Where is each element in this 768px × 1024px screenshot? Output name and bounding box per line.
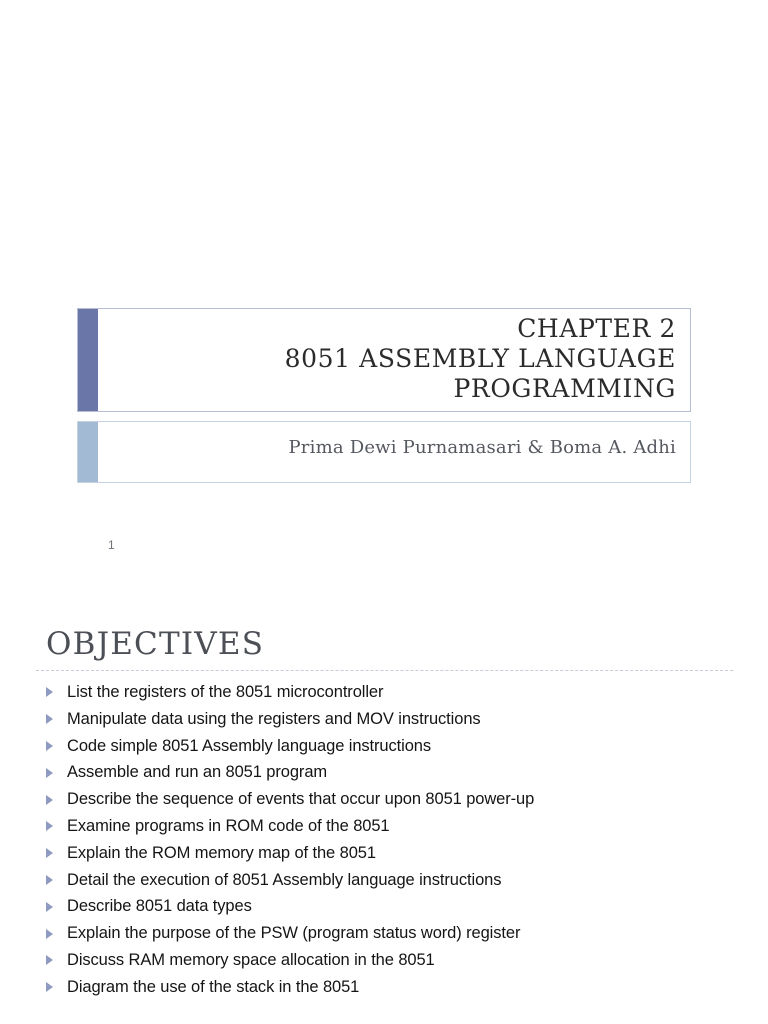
list-item: Explain the purpose of the PSW (program … bbox=[44, 920, 744, 947]
list-item-label: Discuss RAM memory space allocation in t… bbox=[67, 947, 435, 974]
triangle-right-icon bbox=[44, 786, 67, 813]
list-item: Examine programs in ROM code of the 8051 bbox=[44, 813, 744, 840]
objectives-slide: OBJECTIVES List the registers of the 805… bbox=[0, 600, 768, 1024]
triangle-right-icon bbox=[44, 733, 67, 760]
list-item: Explain the ROM memory map of the 8051 bbox=[44, 840, 744, 867]
title-text-group: CHAPTER 2 8051 ASSEMBLY LANGUAGE PROGRAM… bbox=[98, 309, 690, 411]
triangle-right-icon bbox=[44, 920, 67, 947]
list-item-label: Detail the execution of 8051 Assembly la… bbox=[67, 867, 501, 894]
triangle-right-icon bbox=[44, 813, 67, 840]
list-item: Assemble and run an 8051 program bbox=[44, 759, 744, 786]
triangle-right-icon bbox=[44, 947, 67, 974]
list-item: Discuss RAM memory space allocation in t… bbox=[44, 947, 744, 974]
triangle-right-icon bbox=[44, 867, 67, 894]
title-line-programming: PROGRAMMING bbox=[453, 374, 676, 404]
list-item: Describe 8051 data types bbox=[44, 893, 744, 920]
page-title: OBJECTIVES bbox=[46, 625, 264, 663]
list-item-label: Describe 8051 data types bbox=[67, 893, 252, 920]
title-box: CHAPTER 2 8051 ASSEMBLY LANGUAGE PROGRAM… bbox=[77, 308, 691, 412]
subtitle-text-group: Prima Dewi Purnamasari & Boma A. Adhi bbox=[98, 422, 690, 482]
title-line-subject: 8051 ASSEMBLY LANGUAGE bbox=[285, 344, 676, 374]
author-names: Prima Dewi Purnamasari & Boma A. Adhi bbox=[289, 437, 677, 459]
list-item-label: Explain the ROM memory map of the 8051 bbox=[67, 840, 376, 867]
list-item-label: Diagram the use of the stack in the 8051 bbox=[67, 974, 359, 1001]
list-item-label: Code simple 8051 Assembly language instr… bbox=[67, 733, 431, 760]
triangle-right-icon bbox=[44, 706, 67, 733]
list-item-label: Examine programs in ROM code of the 8051 bbox=[67, 813, 390, 840]
list-item: Diagram the use of the stack in the 8051 bbox=[44, 974, 744, 1001]
list-item: Manipulate data using the registers and … bbox=[44, 706, 744, 733]
list-item: Describe the sequence of events that occ… bbox=[44, 786, 744, 813]
list-item-label: Describe the sequence of events that occ… bbox=[67, 786, 534, 813]
slide-number: 1 bbox=[108, 538, 115, 552]
list-item-label: Assemble and run an 8051 program bbox=[67, 759, 327, 786]
heading-divider bbox=[36, 670, 733, 671]
list-item: Code simple 8051 Assembly language instr… bbox=[44, 733, 744, 760]
title-accent-bar bbox=[78, 309, 98, 411]
objectives-bullet-list: List the registers of the 8051 microcont… bbox=[44, 679, 744, 1001]
list-item-label: Explain the purpose of the PSW (program … bbox=[67, 920, 520, 947]
subtitle-box: Prima Dewi Purnamasari & Boma A. Adhi bbox=[77, 421, 691, 483]
list-item: List the registers of the 8051 microcont… bbox=[44, 679, 744, 706]
triangle-right-icon bbox=[44, 974, 67, 1001]
subtitle-accent-bar bbox=[78, 422, 98, 482]
triangle-right-icon bbox=[44, 759, 67, 786]
title-line-chapter: CHAPTER 2 bbox=[517, 314, 676, 344]
title-slide: CHAPTER 2 8051 ASSEMBLY LANGUAGE PROGRAM… bbox=[0, 0, 768, 600]
list-item: Detail the execution of 8051 Assembly la… bbox=[44, 867, 744, 894]
triangle-right-icon bbox=[44, 840, 67, 867]
list-item-label: Manipulate data using the registers and … bbox=[67, 706, 481, 733]
triangle-right-icon bbox=[44, 893, 67, 920]
list-item-label: List the registers of the 8051 microcont… bbox=[67, 679, 383, 706]
triangle-right-icon bbox=[44, 679, 67, 706]
